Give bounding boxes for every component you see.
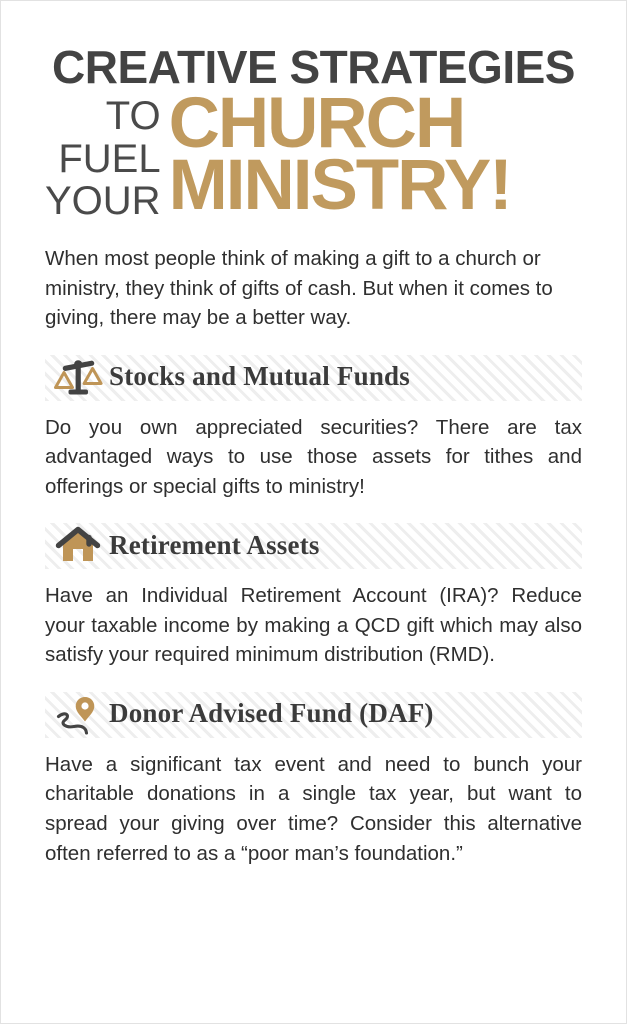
section-body-daf: Have a significant tax event and need to…	[45, 750, 582, 868]
road-map-pin-icon	[47, 692, 109, 738]
section-title-stocks: Stocks and Mutual Funds	[109, 361, 410, 394]
infographic-page: CREATIVE STRATEGIES TO FUEL YOUR CHURCH …	[0, 0, 627, 1024]
headline-big-words: CHURCH MINISTRY!	[169, 93, 582, 217]
headline-word-to: TO	[45, 95, 161, 137]
section-stocks: Stocks and Mutual Funds Do you own appre…	[1, 355, 626, 502]
headline-small-words: TO FUEL YOUR	[45, 93, 169, 222]
section-header-daf: Donor Advised Fund (DAF)	[45, 692, 582, 738]
intro-paragraph: When most people think of making a gift …	[45, 244, 582, 333]
section-header-retirement: Retirement Assets	[45, 523, 582, 569]
section-header-stocks: Stocks and Mutual Funds	[45, 355, 582, 401]
headline-word-ministry: MINISTRY!	[169, 155, 582, 217]
section-daf: Donor Advised Fund (DAF) Have a signific…	[1, 692, 626, 868]
section-title-retirement: Retirement Assets	[109, 530, 320, 563]
headline-block: CREATIVE STRATEGIES TO FUEL YOUR CHURCH …	[1, 1, 626, 222]
section-retirement: Retirement Assets Have an Individual Ret…	[1, 523, 626, 670]
section-title-daf: Donor Advised Fund (DAF)	[109, 698, 434, 731]
headline-word-fuel: FUEL	[45, 138, 161, 180]
balance-scale-icon	[47, 355, 109, 401]
section-body-stocks: Do you own appreciated securities? There…	[45, 413, 582, 502]
house-icon	[47, 523, 109, 569]
headline-lockup: TO FUEL YOUR CHURCH MINISTRY!	[45, 93, 582, 222]
section-body-retirement: Have an Individual Retirement Account (I…	[45, 581, 582, 670]
headline-word-your: YOUR	[45, 180, 161, 222]
headline-line-1: CREATIVE STRATEGIES	[45, 45, 582, 89]
